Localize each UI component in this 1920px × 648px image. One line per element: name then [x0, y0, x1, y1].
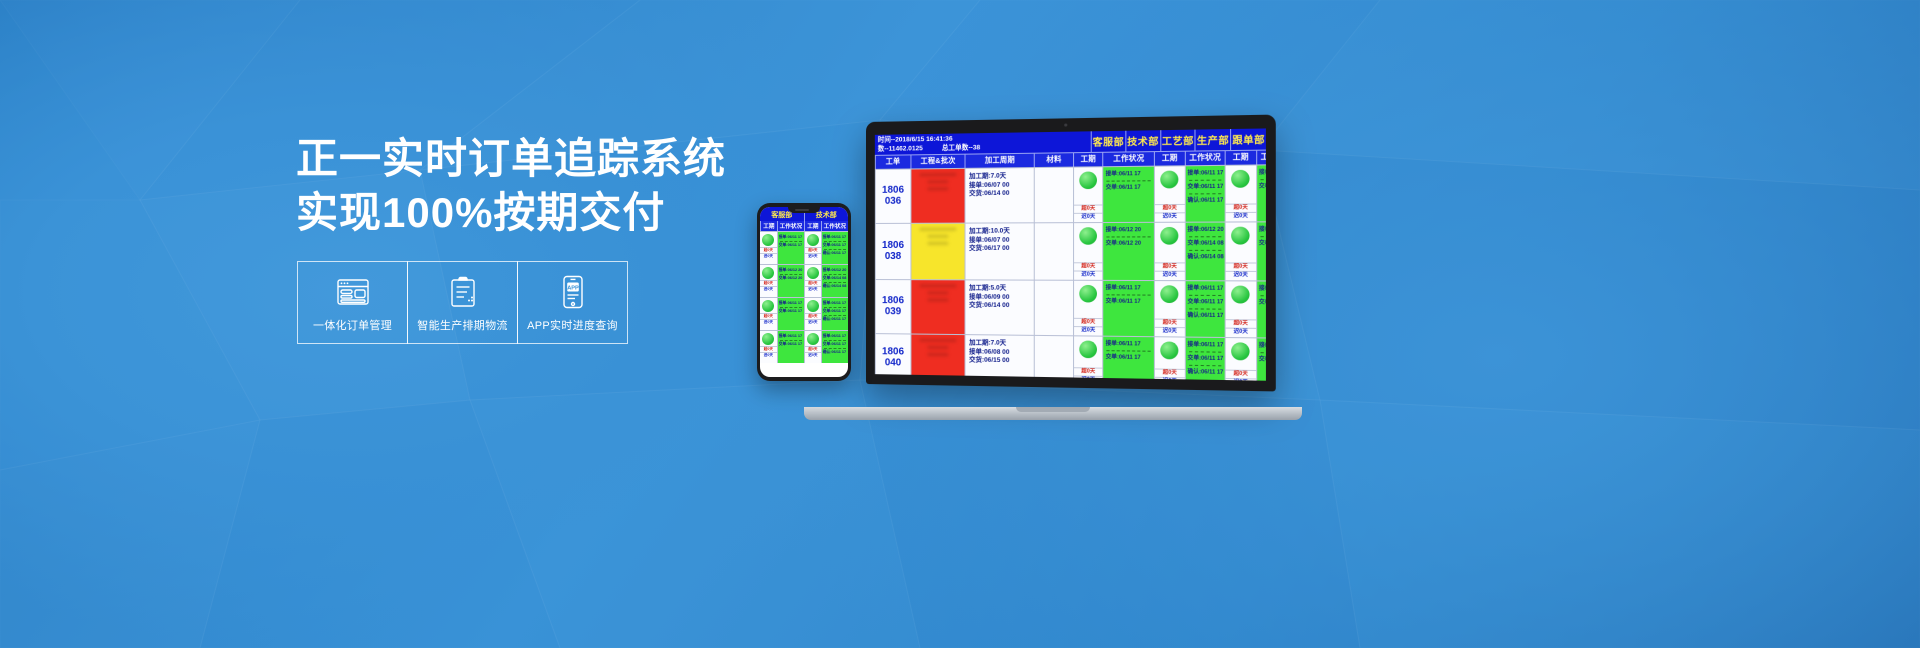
late-days-tag: 迟0天	[1155, 327, 1184, 336]
cell-cycle: 加工期:7.0天接单:06/08 00交货:06/15 00	[965, 335, 1034, 381]
phone-notch	[788, 207, 820, 213]
phone-cell-duration: 超0天迟0天	[760, 331, 777, 363]
table-row[interactable]: 1806040加工期:7.0天接单:06/08 00交货:06/15 00超0天…	[875, 333, 1266, 381]
late-days-tag: 迟0天	[760, 253, 777, 259]
phone-cell-duration: 超0天迟0天	[760, 232, 777, 264]
table-row[interactable]: 1806039加工期:5.0天接单:06/09 00交货:06/14 00超0天…	[875, 279, 1266, 337]
cell-project-batch	[910, 280, 965, 334]
column-header-status-tech: 工作状况	[1184, 151, 1225, 166]
phone-cell-status: 接单:06/11 17交单:06/11 17确认:06/11 17	[821, 232, 848, 264]
status-indicator-dot	[762, 267, 774, 279]
late-days-tag: 迟0天	[1074, 375, 1102, 380]
status-indicator-dot	[1232, 285, 1250, 303]
column-header-duration-proc: 工期	[1225, 150, 1256, 165]
order-management-icon	[336, 273, 370, 311]
late-days-tag: 迟0天	[1155, 212, 1184, 220]
department-header-process: 工艺部	[1160, 130, 1195, 152]
phone-cell-status: 接单:06/12 20交单:06/14 08确认:06/14 08	[821, 265, 848, 297]
table-row[interactable]: 1806038加工期:10.0天接单:06/07 00交货:06/17 00超0…	[875, 221, 1266, 280]
status-indicator-dot	[1232, 170, 1250, 188]
status-indicator-dot	[1079, 285, 1097, 303]
cell-status-工艺部: 接单:06/11 17交单:06/12 09	[1256, 281, 1266, 337]
over-days-tag: 超0天	[1226, 319, 1256, 328]
status-indicator-dot	[1232, 227, 1250, 245]
phone-column-status-cs: 工作状况	[777, 221, 804, 231]
phone-column-duration-cs: 工期	[760, 221, 777, 231]
status-indicator-dot	[762, 234, 774, 246]
erp-meta: 时间--2018/6/15 16:41:36 数--11462.0125 总工单…	[875, 131, 1091, 155]
department-header-technical: 技术部	[1125, 130, 1160, 152]
erp-value-label: 数--11462.0125	[878, 144, 923, 154]
cell-duration-技术部: 超0天迟0天	[1154, 337, 1184, 381]
over-days-tag: 超0天	[1155, 318, 1184, 327]
list-item[interactable]: 超0天迟0天接单:06/11 17交单:06/11 17超0天迟0天接单:06/…	[760, 231, 848, 264]
cell-status-技术部: 接单:06/11 17交单:06/11 17确认:06/11 17	[1184, 281, 1225, 337]
cell-material	[1034, 281, 1073, 336]
cell-status-客服部: 接单:06/11 17交单:06/11 17	[1103, 167, 1155, 222]
over-days-tag: 超0天	[1155, 262, 1184, 270]
department-header-merchandising: 跟单部	[1230, 128, 1266, 150]
phone-cell-status: 接单:06/11 17交单:06/11 17确认:06/11 17	[821, 298, 848, 330]
status-indicator-dot	[1161, 227, 1179, 245]
cell-material	[1034, 336, 1073, 381]
column-header-material: 材料	[1034, 153, 1073, 167]
late-days-tag: 迟0天	[760, 286, 777, 292]
status-indicator-dot	[762, 333, 774, 345]
laptop-screen[interactable]: 时间--2018/6/15 16:41:36 数--11462.0125 总工单…	[875, 128, 1266, 380]
feature-smart-scheduling[interactable]: 智能生产排期物流	[407, 261, 518, 344]
phone-column-duration-tech: 工期	[804, 221, 821, 231]
cell-duration-工艺部: 超0天迟0天	[1225, 222, 1256, 280]
phone-cell-duration: 超0天迟0天	[804, 298, 821, 330]
phone-cell-duration: 超0天迟0天	[760, 265, 777, 297]
phone-cell-status: 接单:06/11 17交单:06/11 17确认:06/11 17	[821, 331, 848, 363]
cell-duration-客服部: 超0天迟0天	[1073, 223, 1102, 280]
feature-label: 智能生产排期物流	[417, 317, 507, 333]
cell-material	[1034, 223, 1073, 280]
erp-dashboard: 时间--2018/6/15 16:41:36 数--11462.0125 总工单…	[875, 128, 1266, 380]
status-indicator-dot	[1232, 342, 1250, 360]
list-item[interactable]: 超0天迟0天接单:06/11 17交单:06/11 17超0天迟0天接单:06/…	[760, 330, 848, 363]
phone-cell-status: 接单:06/12 20交单:06/12 20	[777, 265, 804, 297]
cell-status-客服部: 接单:06/11 17交单:06/11 17	[1103, 281, 1155, 336]
column-header-duration-cs: 工期	[1073, 152, 1102, 166]
phone-cell-duration: 超0天迟0天	[804, 265, 821, 297]
erp-table-body: 1806036加工期:7.0天接单:06/07 00交货:06/14 00超0天…	[875, 164, 1266, 380]
mobile-app-icon: APP	[561, 273, 585, 311]
late-days-tag: 迟0天	[1226, 378, 1256, 381]
cell-duration-客服部: 超0天迟0天	[1073, 281, 1102, 336]
phone-cell-duration: 超0天迟0天	[804, 331, 821, 363]
cell-duration-客服部: 超0天迟0天	[1073, 167, 1102, 222]
status-indicator-dot	[807, 234, 819, 246]
cell-duration-技术部: 超0天迟0天	[1154, 281, 1184, 336]
headline-line-1: 正一实时订单追踪系统	[296, 135, 726, 182]
department-header-customer-service: 客服部	[1091, 131, 1125, 153]
phone-cell-duration: 超0天迟0天	[760, 298, 777, 330]
cell-status-工艺部: 接单:06/11 17交单:06/12 09	[1256, 165, 1266, 221]
phone-column-headers: 工期 工作状况 工期 工作状况	[760, 221, 848, 231]
late-days-tag: 迟0天	[1074, 326, 1102, 335]
late-days-tag: 迟0天	[1226, 271, 1256, 280]
laptop-base	[804, 407, 1302, 420]
department-header-production: 生产部	[1195, 129, 1230, 151]
cell-status-技术部: 接单:06/12 20交单:06/14 08确认:06/14 08	[1184, 222, 1225, 280]
status-indicator-dot	[807, 333, 819, 345]
status-indicator-dot	[1161, 341, 1179, 359]
phone-cell-status: 接单:06/11 17交单:06/11 17	[777, 298, 804, 330]
status-indicator-dot	[807, 267, 819, 279]
cell-duration-工艺部: 超0天迟0天	[1225, 165, 1256, 221]
column-header-work-order: 工单	[875, 155, 910, 169]
late-days-tag: 迟0天	[760, 352, 777, 358]
cell-duration-客服部: 超0天迟0天	[1073, 336, 1102, 380]
phone-cell-duration: 超0天迟0天	[804, 232, 821, 264]
cell-status-工艺部: 接单:06/11 17交单:06/12 09	[1256, 338, 1266, 380]
phone-table-body: 超0天迟0天接单:06/11 17交单:06/11 17超0天迟0天接单:06/…	[760, 231, 848, 363]
cell-status-客服部: 接单:06/11 17交单:06/11 17	[1103, 337, 1155, 381]
late-days-tag: 迟0天	[1074, 270, 1102, 278]
cell-project-batch	[910, 334, 965, 380]
late-days-tag: 迟0天	[1155, 271, 1184, 279]
status-indicator-dot	[762, 300, 774, 312]
late-days-tag: 迟0天	[805, 352, 821, 358]
cell-duration-技术部: 超0天迟0天	[1154, 166, 1184, 221]
cell-cycle: 加工期:7.0天接单:06/07 00交货:06/14 00	[965, 168, 1034, 223]
cell-material	[1034, 168, 1073, 223]
phone-body: 客服部 技术部 工期 工作状况 工期 工作状况 超0天迟0天接单:06/11 1…	[757, 203, 851, 381]
status-indicator-dot	[1161, 285, 1179, 303]
late-days-tag: 迟0天	[1226, 327, 1256, 336]
over-days-tag: 超0天	[1074, 262, 1102, 270]
erp-total-orders: 总工单数--38	[942, 143, 980, 153]
table-row[interactable]: 1806036加工期:7.0天接单:06/07 00交货:06/14 00超0天…	[875, 164, 1266, 223]
feature-list: 一体化订单管理 智能生产排期物流 APP	[297, 261, 628, 344]
laptop-lid: 时间--2018/6/15 16:41:36 数--11462.0125 总工单…	[866, 115, 1276, 392]
status-indicator-dot	[1079, 171, 1097, 189]
column-header-project-batch: 工程&批次	[910, 154, 965, 168]
list-item[interactable]: 超0天迟0天接单:06/12 20交单:06/12 20超0天迟0天接单:06/…	[760, 264, 848, 297]
cell-duration-工艺部: 超0天迟0天	[1225, 281, 1256, 337]
status-indicator-dot	[1161, 170, 1179, 188]
late-days-tag: 迟0天	[805, 253, 821, 259]
list-item[interactable]: 超0天迟0天接单:06/11 17交单:06/11 17超0天迟0天接单:06/…	[760, 297, 848, 330]
cell-work-order: 1806039	[875, 280, 910, 333]
cell-project-batch	[910, 169, 965, 223]
column-header-status-proc: 工作状况	[1256, 150, 1266, 165]
over-days-tag: 超0天	[1226, 203, 1256, 212]
feature-label: APP实时进度查询	[527, 317, 618, 333]
column-header-status-cs: 工作状况	[1103, 152, 1155, 167]
cell-status-技术部: 接单:06/11 17交单:06/11 17确认:06/11 17	[1184, 337, 1225, 380]
feature-app-tracking[interactable]: APP APP实时进度查询	[517, 261, 628, 344]
late-days-tag: 迟0天	[1155, 377, 1184, 381]
feature-label: 一体化订单管理	[313, 317, 392, 333]
late-days-tag: 迟0天	[760, 319, 777, 325]
status-indicator-dot	[1079, 227, 1097, 245]
over-days-tag: 超0天	[1074, 318, 1102, 327]
clipboard-schedule-icon	[448, 273, 478, 311]
cell-status-技术部: 接单:06/11 17交单:06/11 17确认:06/11 17	[1184, 166, 1225, 222]
cell-cycle: 加工期:10.0天接单:06/07 00交货:06/17 00	[965, 223, 1034, 279]
page-title: 正一实时订单追踪系统 实现100%按期交付	[296, 132, 756, 240]
webcam-icon	[1064, 123, 1067, 126]
hero-section: 正一实时订单追踪系统 实现100%按期交付	[296, 132, 756, 240]
laptop-device: 时间--2018/6/15 16:41:36 数--11462.0125 总工单…	[866, 122, 1316, 417]
cell-work-order: 1806040	[875, 334, 910, 381]
phone-screen[interactable]: 客服部 技术部 工期 工作状况 工期 工作状况 超0天迟0天接单:06/11 1…	[760, 207, 848, 377]
over-days-tag: 超0天	[1226, 262, 1256, 270]
column-header-duration-tech: 工期	[1154, 151, 1184, 165]
phone-cell-status: 接单:06/11 17交单:06/11 17	[777, 232, 804, 264]
cell-status-工艺部: 接单:06/14 08交单:06/15 16	[1256, 222, 1266, 280]
late-days-tag: 迟0天	[805, 286, 821, 292]
feature-order-management[interactable]: 一体化订单管理	[297, 261, 408, 344]
column-header-cycle: 加工周期	[965, 153, 1034, 168]
late-days-tag: 迟0天	[805, 319, 821, 325]
over-days-tag: 超0天	[1074, 204, 1102, 212]
over-days-tag: 超0天	[1155, 204, 1184, 213]
status-indicator-dot	[807, 300, 819, 312]
phone-column-status-tech: 工作状况	[821, 221, 848, 231]
late-days-tag: 迟0天	[1074, 213, 1102, 221]
erp-department-headers: 客服部 技术部 工艺部 生产部 跟单部	[1091, 128, 1266, 152]
late-days-tag: 迟0天	[1226, 212, 1256, 221]
phone-device: 客服部 技术部 工期 工作状况 工期 工作状况 超0天迟0天接单:06/11 1…	[757, 203, 851, 381]
cell-project-batch	[910, 224, 965, 280]
cell-duration-工艺部: 超0天迟0天	[1225, 338, 1256, 381]
cell-duration-技术部: 超0天迟0天	[1154, 223, 1184, 280]
cell-cycle: 加工期:5.0天接单:06/09 00交货:06/14 00	[965, 280, 1034, 334]
headline-line-2: 实现100%按期交付	[296, 186, 756, 240]
cell-work-order: 1806038	[875, 224, 910, 279]
cell-status-客服部: 接单:06/12 20交单:06/12 20	[1103, 223, 1155, 280]
phone-cell-status: 接单:06/11 17交单:06/11 17	[777, 331, 804, 363]
cell-work-order: 1806036	[875, 169, 910, 222]
status-indicator-dot	[1079, 340, 1097, 358]
svg-text:APP: APP	[567, 285, 579, 291]
